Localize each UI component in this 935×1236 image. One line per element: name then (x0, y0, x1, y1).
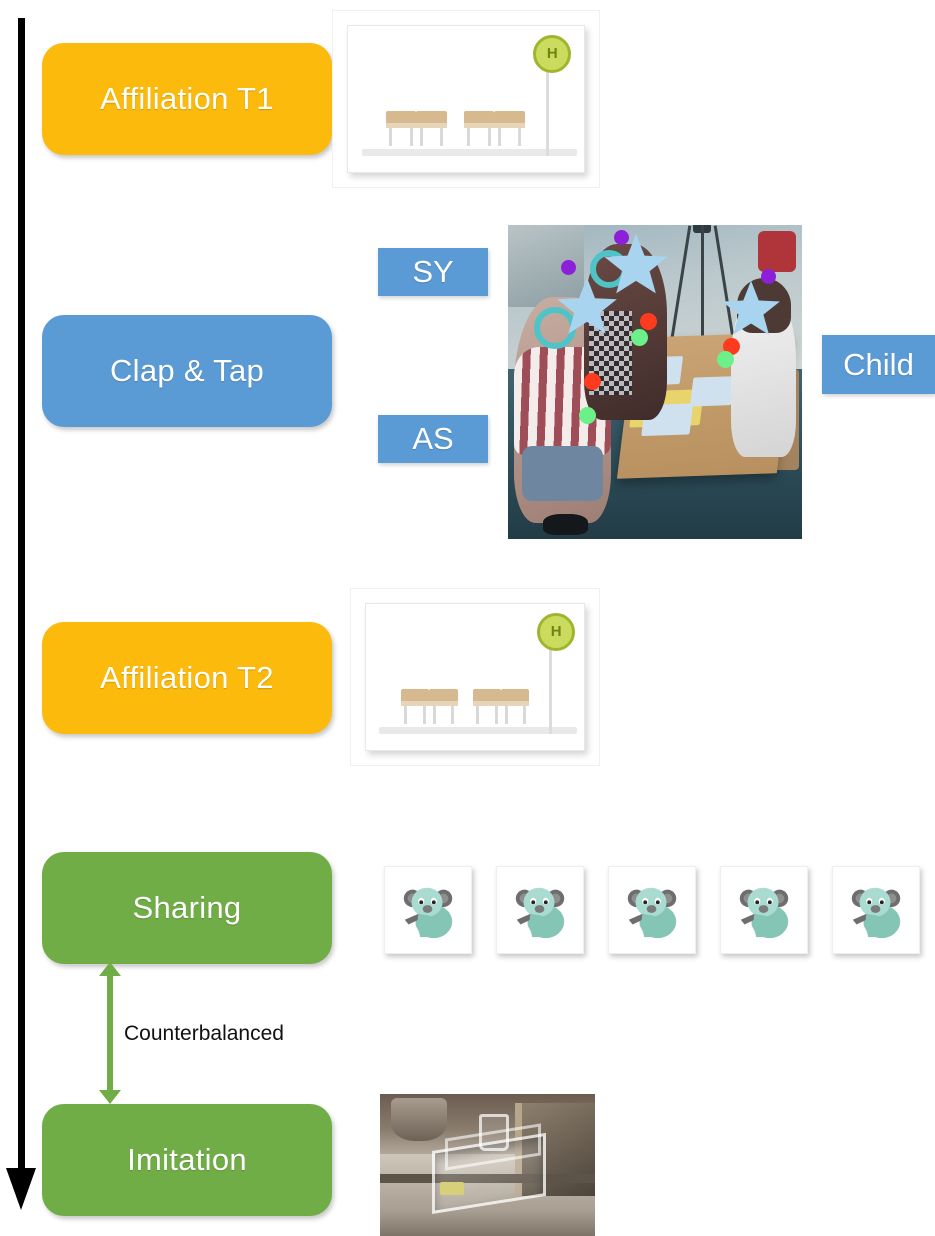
role-tag-sy-label: SY (412, 254, 453, 290)
koala-sticker-card[interactable] (720, 866, 808, 954)
timeline-arrow-shaft (18, 18, 25, 1178)
counterbalanced-label: Counterbalanced (124, 1022, 284, 1046)
bus-stop-sign-pole (546, 58, 549, 156)
figure-canvas: Affiliation T1 H Clap & Tap (0, 0, 935, 1236)
marker-dot-hand-red (584, 373, 601, 390)
counterbalanced-arrow (97, 962, 123, 1104)
puzzle-box-reward (440, 1182, 464, 1195)
stage-label-sharing: Sharing (133, 890, 242, 926)
photo-background-toy (758, 231, 796, 272)
face-star-marker (602, 231, 670, 299)
bus-stop-chair-icon (464, 111, 495, 146)
timeline-arrow-head (6, 1168, 36, 1210)
bus-stop-sign-pole (549, 636, 552, 734)
bus-stop-h-letter: H (547, 45, 558, 62)
bus-stop-chair-icon (401, 689, 429, 724)
bus-stop-ground-t1 (362, 149, 577, 156)
bus-stop-illustration-t2: H (350, 588, 600, 766)
koala-sticker-card[interactable] (608, 866, 696, 954)
stage-pill-affiliation-t2[interactable]: Affiliation T2 (42, 622, 332, 734)
timeline-arrow (10, 18, 40, 1228)
koala-sticker-card[interactable] (384, 866, 472, 954)
stage-label-imitation: Imitation (127, 1142, 247, 1178)
role-tag-as[interactable]: AS (378, 415, 488, 463)
stage-label-affiliation-t2: Affiliation T2 (100, 660, 274, 696)
clap-tap-session-photo (508, 225, 802, 539)
bus-stop-h-letter: H (551, 623, 562, 640)
bus-stop-h-sign-icon: H (533, 35, 571, 73)
bus-stop-ground-t2 (379, 727, 577, 734)
bus-stop-chair-icon (494, 111, 525, 146)
role-tag-sy[interactable]: SY (378, 248, 488, 296)
role-tag-child-label: Child (843, 347, 914, 383)
role-tag-as-label: AS (412, 421, 453, 457)
bus-stop-card-t2: H (365, 603, 585, 751)
role-tag-child[interactable]: Child (822, 335, 935, 394)
stage-label-clap-and-tap: Clap & Tap (110, 353, 264, 389)
marker-dot-head (561, 260, 576, 275)
bus-stop-chair-icon (416, 111, 447, 146)
bus-stop-card-t1: H (347, 25, 585, 173)
marker-dot-hand-green (717, 351, 734, 368)
imitation-puzzle-box-photo (380, 1094, 595, 1236)
marker-dot-hand-green (631, 329, 648, 346)
face-star-marker (720, 278, 782, 340)
stage-pill-clap-and-tap[interactable]: Clap & Tap (42, 315, 332, 427)
bus-stop-chair-icon (429, 689, 457, 724)
bus-stop-chair-icon (473, 689, 501, 724)
marker-dot-hand-green (579, 407, 596, 424)
koala-sticker-card[interactable] (496, 866, 584, 954)
stage-label-affiliation-t1: Affiliation T1 (100, 81, 274, 117)
koala-sticker-card[interactable] (832, 866, 920, 954)
stage-pill-affiliation-t1[interactable]: Affiliation T1 (42, 43, 332, 155)
bus-stop-h-sign-icon: H (537, 613, 575, 651)
counterbalanced-arrow-shaft (107, 974, 113, 1092)
counterbalanced-arrow-head-down (99, 1090, 121, 1104)
bus-stop-illustration-t1: H (332, 10, 600, 188)
bus-stop-chair-icon (501, 689, 529, 724)
marker-dot-head (761, 269, 776, 284)
marker-dot-head (614, 230, 629, 245)
bus-stop-chair-icon (386, 111, 417, 146)
puzzle-box-tube (479, 1114, 509, 1151)
stage-pill-imitation[interactable]: Imitation (42, 1104, 332, 1216)
photo-background-pot (391, 1098, 447, 1141)
stage-pill-sharing[interactable]: Sharing (42, 852, 332, 964)
